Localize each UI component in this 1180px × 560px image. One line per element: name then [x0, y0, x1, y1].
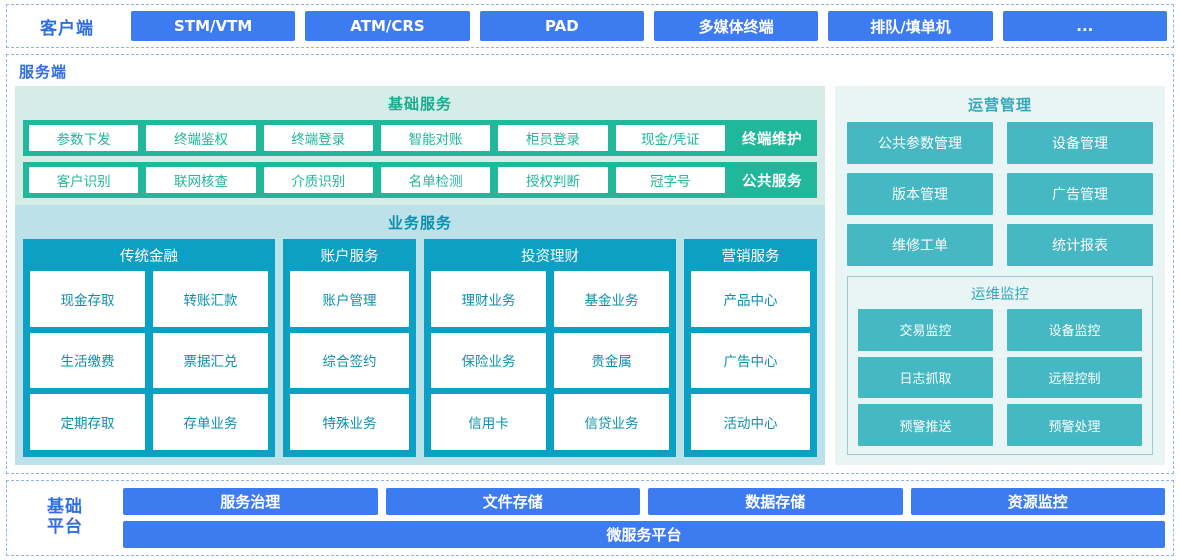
business-item-comprehensive-signing[interactable]: 综合签约	[290, 333, 409, 389]
business-group-marketing-service: 营销服务 产品中心 广告中心 活动中心	[684, 239, 817, 457]
business-item-precious-metals[interactable]: 贵金属	[554, 333, 669, 389]
platform-item-service-governance[interactable]: 服务治理	[123, 488, 378, 515]
business-group-title-marketing-service: 营销服务	[691, 243, 810, 271]
monitor-tile-device-monitoring[interactable]: 设备监控	[1007, 309, 1142, 351]
ops-tile-statistical-report[interactable]: 统计报表	[1007, 224, 1153, 266]
client-item-atm-crs[interactable]: ATM/CRS	[305, 11, 469, 41]
business-item-activity-center[interactable]: 活动中心	[691, 394, 810, 450]
ops-tile-device-management[interactable]: 设备管理	[1007, 122, 1153, 164]
client-layer: 客户端 STM/VTM ATM/CRS PAD 多媒体终端 排队/填单机 ...	[6, 4, 1174, 48]
business-item-product-center[interactable]: 产品中心	[691, 271, 810, 327]
client-item-multimedia-terminal[interactable]: 多媒体终端	[654, 11, 818, 41]
monitor-tile-alarm-push[interactable]: 预警推送	[858, 404, 993, 446]
basic-item-list-check[interactable]: 名单检测	[381, 167, 490, 193]
platform-item-microservice-platform[interactable]: 微服务平台	[123, 521, 1165, 548]
ops-monitoring-tiles: 交易监控 设备监控 日志抓取 远程控制 预警推送 预警处理	[858, 309, 1142, 446]
business-group-traditional-finance: 传统金融 现金存取 转账汇款 生活缴费 票据汇兑 定期存取 存单业务	[23, 239, 275, 457]
client-item-queue-form-machine[interactable]: 排队/填单机	[828, 11, 992, 41]
business-group-title-account-service: 账户服务	[290, 243, 409, 271]
platform-layer-title: 基础 平台	[15, 498, 115, 537]
ops-monitoring-box: 运维监控 交易监控 设备监控 日志抓取 远程控制 预警推送 预警处理	[847, 276, 1153, 455]
business-group-investment-finance: 投资理财 理财业务 基金业务 保险业务 贵金属 信用卡 信贷业务	[424, 239, 676, 457]
monitor-tile-transaction-monitoring[interactable]: 交易监控	[858, 309, 993, 351]
basic-item-teller-login[interactable]: 柜员登录	[498, 125, 607, 151]
business-item-fund-business[interactable]: 基金业务	[554, 271, 669, 327]
server-layer-body: 基础服务 参数下发 终端鉴权 终端登录 智能对账 柜员登录 现金/凭证 终端维护…	[15, 86, 1165, 465]
business-group-items-investment-finance: 理财业务 基金业务 保险业务 贵金属 信用卡 信贷业务	[431, 271, 669, 450]
server-left-column: 基础服务 参数下发 终端鉴权 终端登录 智能对账 柜员登录 现金/凭证 终端维护…	[15, 86, 825, 465]
client-item-stm-vtm[interactable]: STM/VTM	[131, 11, 295, 41]
monitor-tile-log-capture[interactable]: 日志抓取	[858, 357, 993, 399]
server-layer: 服务端 基础服务 参数下发 终端鉴权 终端登录 智能对账 柜员登录 现金/凭证 …	[6, 54, 1174, 474]
platform-layer-body: 服务治理 文件存储 数据存储 资源监控 微服务平台	[123, 488, 1165, 548]
business-group-title-investment-finance: 投资理财	[431, 243, 669, 271]
platform-title-line-1: 基础	[15, 498, 115, 518]
operations-management-tiles: 公共参数管理 设备管理 版本管理 广告管理 维修工单 统计报表	[847, 122, 1153, 266]
basic-item-terminal-login[interactable]: 终端登录	[264, 125, 373, 151]
business-group-items-marketing-service: 产品中心 广告中心 活动中心	[691, 271, 810, 450]
basic-item-cash-voucher[interactable]: 现金/凭证	[616, 125, 725, 151]
basic-service-row-terminal-maintenance: 参数下发 终端鉴权 终端登录 智能对账 柜员登录 现金/凭证 终端维护	[23, 120, 817, 156]
business-item-advertising-center[interactable]: 广告中心	[691, 333, 810, 389]
ops-tile-repair-work-order[interactable]: 维修工单	[847, 224, 993, 266]
business-item-certificate-deposit[interactable]: 存单业务	[153, 394, 268, 450]
business-item-living-payment[interactable]: 生活缴费	[30, 333, 145, 389]
business-item-credit-loan[interactable]: 信贷业务	[554, 394, 669, 450]
business-item-account-management[interactable]: 账户管理	[290, 271, 409, 327]
client-item-pad[interactable]: PAD	[480, 11, 644, 41]
business-service-title: 业务服务	[23, 210, 817, 239]
basic-item-crown-number[interactable]: 冠字号	[616, 167, 725, 193]
basic-item-online-verification[interactable]: 联网核查	[146, 167, 255, 193]
business-service-groups: 传统金融 现金存取 转账汇款 生活缴费 票据汇兑 定期存取 存单业务	[23, 239, 817, 457]
platform-item-resource-monitoring[interactable]: 资源监控	[911, 488, 1166, 515]
business-item-special-business[interactable]: 特殊业务	[290, 394, 409, 450]
client-layer-title: 客户端	[13, 14, 121, 39]
architecture-diagram: 客户端 STM/VTM ATM/CRS PAD 多媒体终端 排队/填单机 ...…	[0, 0, 1180, 560]
business-item-wealth-management[interactable]: 理财业务	[431, 271, 546, 327]
ops-tile-advertising-management[interactable]: 广告管理	[1007, 173, 1153, 215]
business-group-items-traditional-finance: 现金存取 转账汇款 生活缴费 票据汇兑 定期存取 存单业务	[30, 271, 268, 450]
basic-item-param-push[interactable]: 参数下发	[29, 125, 138, 151]
basic-item-customer-identification[interactable]: 客户识别	[29, 167, 138, 193]
monitor-tile-alarm-handling[interactable]: 预警处理	[1007, 404, 1142, 446]
business-item-bill-exchange[interactable]: 票据汇兑	[153, 333, 268, 389]
basic-item-authorization-judgement[interactable]: 授权判断	[498, 167, 607, 193]
basic-item-terminal-auth[interactable]: 终端鉴权	[146, 125, 255, 151]
basic-service-title: 基础服务	[23, 91, 817, 120]
basic-service-row-public-service: 客户识别 联网核查 介质识别 名单检测 授权判断 冠字号 公共服务	[23, 162, 817, 198]
business-item-credit-card[interactable]: 信用卡	[431, 394, 546, 450]
business-item-insurance-business[interactable]: 保险业务	[431, 333, 546, 389]
business-group-account-service: 账户服务 账户管理 综合签约 特殊业务	[283, 239, 416, 457]
business-item-fixed-deposit[interactable]: 定期存取	[30, 394, 145, 450]
platform-item-file-storage[interactable]: 文件存储	[386, 488, 641, 515]
ops-monitoring-title: 运维监控	[858, 282, 1142, 309]
platform-row-components: 服务治理 文件存储 数据存储 资源监控	[123, 488, 1165, 515]
platform-title-line-2: 平台	[15, 518, 115, 538]
business-service-section: 业务服务 传统金融 现金存取 转账汇款 生活缴费 票据汇兑 定期存取 存单业务	[15, 205, 825, 465]
basic-service-section: 基础服务 参数下发 终端鉴权 终端登录 智能对账 柜员登录 现金/凭证 终端维护…	[15, 86, 825, 205]
operations-management-panel: 运营管理 公共参数管理 设备管理 版本管理 广告管理 维修工单 统计报表 运维监…	[835, 86, 1165, 465]
ops-tile-version-management[interactable]: 版本管理	[847, 173, 993, 215]
business-group-title-traditional-finance: 传统金融	[30, 243, 268, 271]
monitor-tile-remote-control[interactable]: 远程控制	[1007, 357, 1142, 399]
platform-layer: 基础 平台 服务治理 文件存储 数据存储 资源监控 微服务平台	[6, 480, 1174, 556]
client-item-more[interactable]: ...	[1003, 11, 1167, 41]
ops-tile-public-parameter-management[interactable]: 公共参数管理	[847, 122, 993, 164]
basic-service-row-label-terminal-maintenance: 终端维护	[733, 128, 811, 149]
business-item-transfer-remittance[interactable]: 转账汇款	[153, 271, 268, 327]
basic-service-row-label-public-service: 公共服务	[733, 170, 811, 191]
basic-item-smart-reconciliation[interactable]: 智能对账	[381, 125, 490, 151]
business-item-cash-deposit-withdraw[interactable]: 现金存取	[30, 271, 145, 327]
business-group-items-account-service: 账户管理 综合签约 特殊业务	[290, 271, 409, 450]
platform-item-data-storage[interactable]: 数据存储	[648, 488, 903, 515]
operations-management-title: 运营管理	[847, 92, 1153, 122]
server-layer-title: 服务端	[15, 59, 1165, 86]
basic-item-media-recognition[interactable]: 介质识别	[264, 167, 373, 193]
